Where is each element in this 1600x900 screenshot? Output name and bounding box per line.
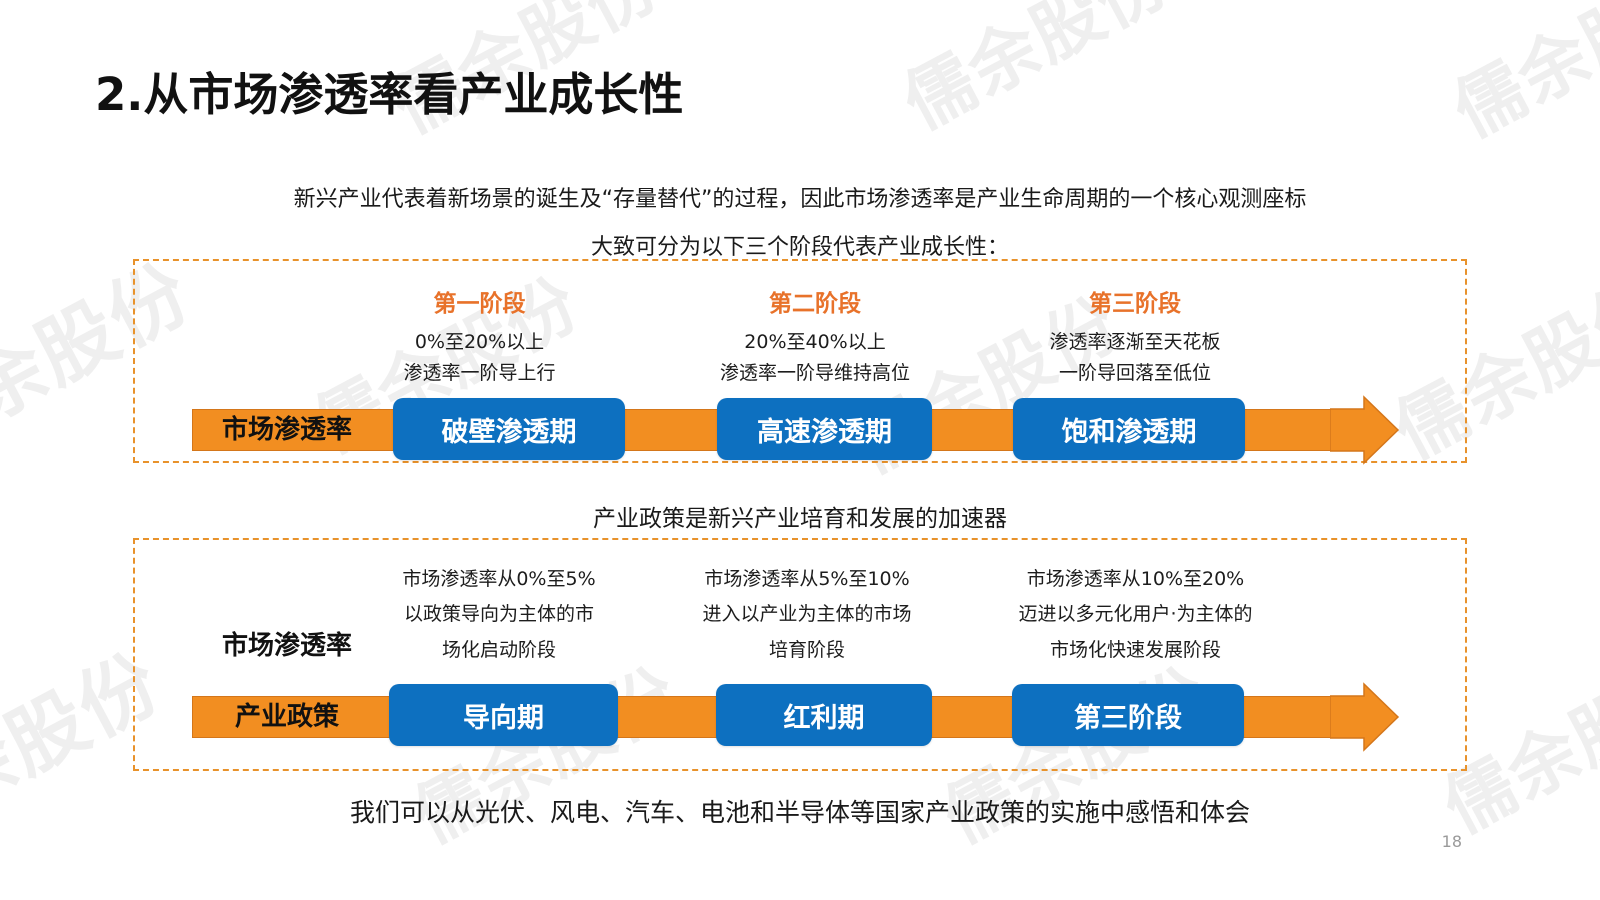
stage-column-1: 第一阶段 0%至20%以上 渗透率一阶导上行 [352, 284, 607, 389]
mid-note: 产业政策是新兴产业培育和发展的加速器 [0, 499, 1600, 533]
stage-column-2: 第二阶段 20%至40%以上 渗透率一阶导维持高位 [680, 284, 950, 389]
stage-text-line: 20%至40%以上 [680, 327, 950, 358]
phase-box-1[interactable]: 破壁渗透期 [393, 398, 625, 460]
stage-text-line: 一阶导回落至低位 [1000, 358, 1270, 389]
page-number: 18 [1442, 832, 1462, 851]
phase-box-3[interactable]: 饱和渗透期 [1013, 398, 1245, 460]
stage-text-line: 渗透率一阶导维持高位 [680, 358, 950, 389]
policy-side-label: 市场渗透率 [222, 625, 352, 662]
arrow-head-icon [1330, 682, 1400, 752]
policy-box-1[interactable]: 导向期 [389, 684, 618, 746]
policy-text-line: 进入以产业为主体的市场 [672, 597, 942, 632]
policy-text-line: 场化启动阶段 [368, 633, 630, 668]
policy-column-3: 市场渗透率从10%至20% 迈进以多元化用户·为主体的 市场化快速发展阶段 [988, 562, 1283, 668]
policy-box-2[interactable]: 红利期 [716, 684, 932, 746]
intro-line-2: 大致可分为以下三个阶段代表产业成长性： [0, 229, 1600, 261]
policy-text-line: 市场渗透率从5%至10% [672, 562, 942, 597]
stage-heading: 第三阶段 [1000, 284, 1270, 318]
stage-heading: 第一阶段 [352, 284, 607, 318]
policy-text-line: 培育阶段 [672, 633, 942, 668]
penetration-bar-label: 市场渗透率 [192, 409, 382, 451]
policy-column-1: 市场渗透率从0%至5% 以政策导向为主体的市 场化启动阶段 [368, 562, 630, 668]
stage-text-line: 渗透率一阶导上行 [352, 358, 607, 389]
stage-column-3: 第三阶段 渗透率逐渐至天花板 一阶导回落至低位 [1000, 284, 1270, 389]
stage-text-line: 0%至20%以上 [352, 327, 607, 358]
page-title: 2.从市场渗透率看产业成长性 [95, 58, 683, 123]
policy-bar-label: 产业政策 [192, 696, 382, 738]
policy-text-line: 市场渗透率从10%至20% [988, 562, 1283, 597]
policy-box-3[interactable]: 第三阶段 [1012, 684, 1244, 746]
policy-text-line: 市场渗透率从0%至5% [368, 562, 630, 597]
foot-note: 我们可以从光伏、风电、汽车、电池和半导体等国家产业政策的实施中感悟和体会 [0, 793, 1600, 829]
phase-box-2[interactable]: 高速渗透期 [717, 398, 932, 460]
policy-text-line: 迈进以多元化用户·为主体的 [988, 597, 1283, 632]
stage-text-line: 渗透率逐渐至天花板 [1000, 327, 1270, 358]
policy-text-line: 市场化快速发展阶段 [988, 633, 1283, 668]
policy-text-line: 以政策导向为主体的市 [368, 597, 630, 632]
slide-root: 儒余股份 儒余股份 儒余股份 儒余股份 儒余股份 儒余股份 儒余股份 儒余股份 … [0, 0, 1600, 900]
intro-line-1: 新兴产业代表着新场景的诞生及“存量替代”的过程，因此市场渗透率是产业生命周期的一… [0, 181, 1600, 213]
arrow-head-icon [1330, 395, 1400, 465]
policy-column-2: 市场渗透率从5%至10% 进入以产业为主体的市场 培育阶段 [672, 562, 942, 668]
watermark: 儒余股份 [1433, 0, 1600, 157]
watermark: 儒余股份 [883, 0, 1185, 149]
stage-heading: 第二阶段 [680, 284, 950, 318]
